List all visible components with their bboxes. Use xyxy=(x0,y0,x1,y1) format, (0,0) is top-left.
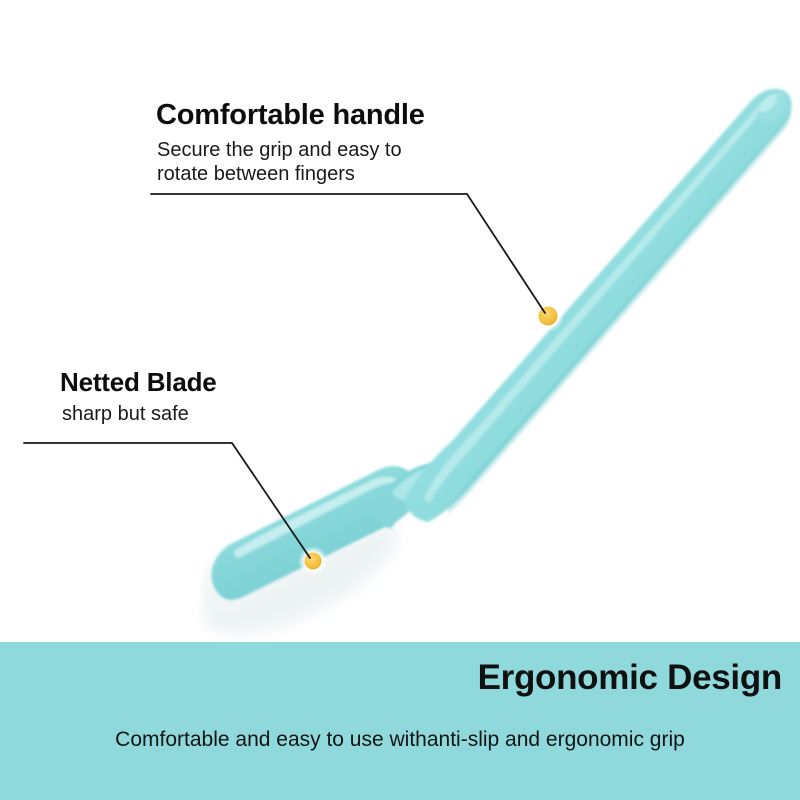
callout-handle-subtitle: Secure the grip and easy to rotate betwe… xyxy=(157,138,425,186)
blade-accent-dot xyxy=(298,546,328,576)
handle-accent-dot xyxy=(532,300,564,332)
bottom-banner: Ergonomic Design Comfortable and easy to… xyxy=(0,642,800,800)
callout-netted-blade: Netted Blade sharp but safe xyxy=(60,367,217,426)
callout-blade-title: Netted Blade xyxy=(60,367,217,397)
callout-comfortable-handle: Comfortable handle Secure the grip and e… xyxy=(156,98,425,186)
banner-title: Ergonomic Design xyxy=(478,658,782,698)
callout-handle-title: Comfortable handle xyxy=(156,98,425,132)
infographic-canvas: Comfortable handle Secure the grip and e… xyxy=(0,0,800,800)
banner-subtitle: Comfortable and easy to use withanti-sli… xyxy=(0,728,800,752)
callout-blade-subtitle: sharp but safe xyxy=(62,402,217,426)
